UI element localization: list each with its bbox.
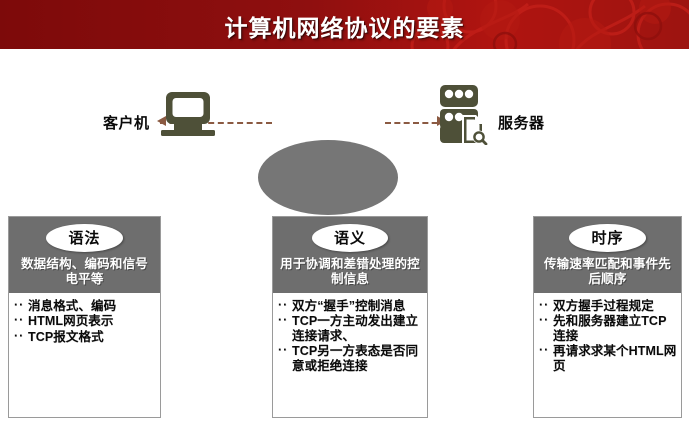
list-item: TCP报文格式 [14,330,156,345]
list-item: 再请求求某个HTML网页 [539,344,677,373]
server-rack-icon [434,83,496,145]
list-item: 消息格式、编码 [14,299,156,314]
card-header: 语义 用于协调和差错处理的控制信息 [273,217,427,293]
concept-card-semantics[interactable]: 语义 用于协调和差错处理的控制信息 双方“握手”控制消息 TCP一方主动发出建立… [272,216,428,418]
card-header: 语法 数据结构、编码和信号电平等 [9,217,160,293]
card-title-pill: 语法 [46,224,122,252]
concept-card-syntax[interactable]: 语法 数据结构、编码和信号电平等 消息格式、编码 HTML网页表示 TCP报文格… [8,216,161,418]
laptop-icon [160,90,216,138]
card-title-pill: 时序 [569,224,645,252]
list-item: 先和服务器建立TCP连接 [539,314,677,343]
list-item: 双方“握手”控制消息 [278,299,423,314]
server-label: 服务器 [498,112,545,133]
client-label: 客户机 [103,112,150,133]
card-subtitle: 数据结构、编码和信号电平等 [15,257,154,287]
card-subtitle: 用于协调和差错处理的控制信息 [279,257,421,287]
slide-root: 计算机网络协议的要素 客户机 服务器 [0,0,689,427]
card-bullet-list: 双方“握手”控制消息 TCP一方主动发出建立连接请求、 TCP另一方表态是否同意… [273,293,427,374]
title-banner: 计算机网络协议的要素 [0,0,689,52]
network-diagram: 客户机 服务器 [0,55,689,205]
list-item: HTML网页表示 [14,314,156,329]
list-item: TCP一方主动发出建立连接请求、 [278,314,423,343]
page-title: 计算机网络协议的要素 [0,0,689,52]
network-cloud [258,140,398,215]
card-title-pill: 语义 [312,224,388,252]
card-bullet-list: 双方握手过程规定 先和服务器建立TCP连接 再请求求某个HTML网页 [534,293,681,374]
card-subtitle: 传输速率匹配和事件先后顺序 [540,257,675,287]
banner-underline [0,49,689,52]
card-bullet-list: 消息格式、编码 HTML网页表示 TCP报文格式 [9,293,160,345]
concept-card-timing[interactable]: 时序 传输速率匹配和事件先后顺序 双方握手过程规定 先和服务器建立TCP连接 再… [533,216,682,418]
list-item: 双方握手过程规定 [539,299,677,314]
list-item: TCP另一方表态是否同意或拒绝连接 [278,344,423,373]
card-header: 时序 传输速率匹配和事件先后顺序 [534,217,681,293]
